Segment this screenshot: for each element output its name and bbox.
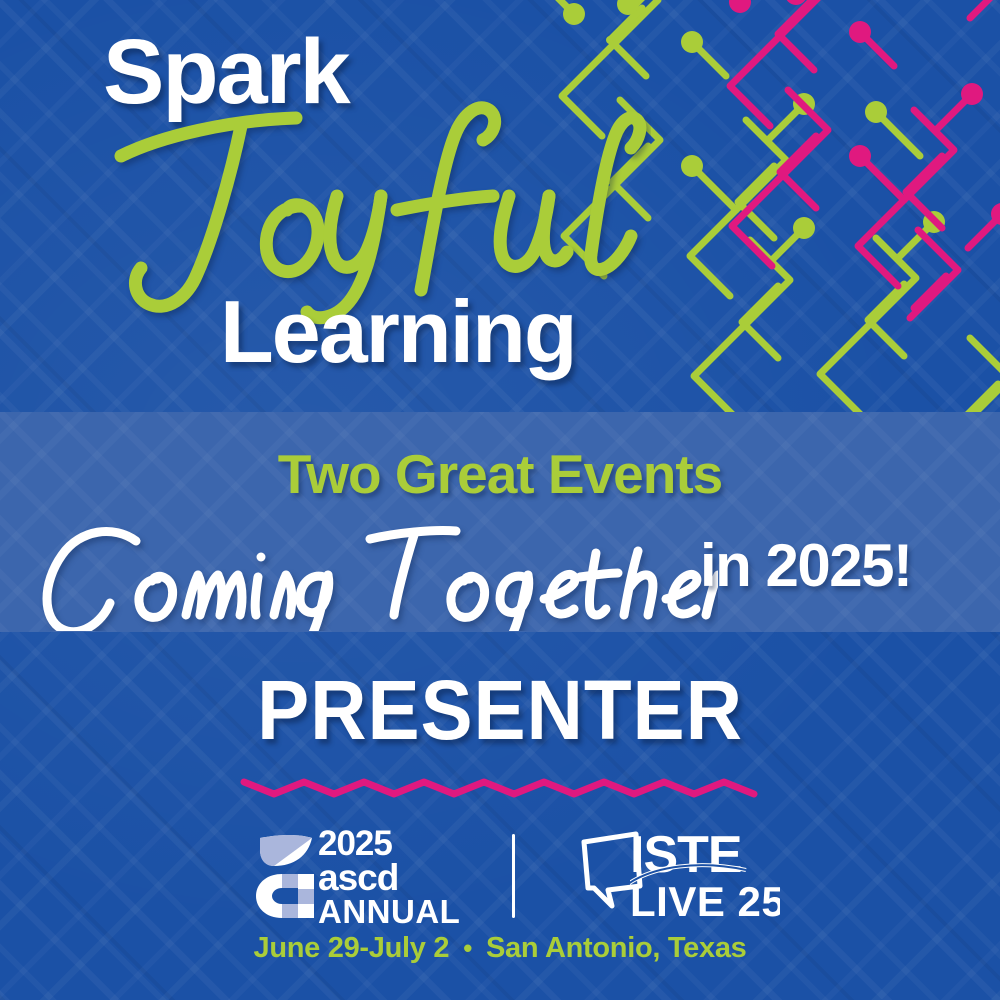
promo-poster: Spark Joyful — [0, 0, 1000, 1000]
event-location: San Antonio, Texas — [486, 932, 746, 964]
ascd-year: 2025 — [318, 828, 460, 861]
band-subline: Coming Together — [0, 517, 1000, 627]
magenta-zigzag-rule — [240, 770, 765, 806]
ascd-event: ANNUAL — [318, 896, 460, 927]
ascd-logo: 2025 ascd ANNUAL — [252, 828, 452, 926]
event-dates: June 29-July 2 — [254, 932, 450, 964]
band-script-coming-together: Coming Together — [18, 511, 718, 631]
event-details: June 29-July 2•San Antonio, Texas — [0, 932, 1000, 965]
band-headline: Two Great Events — [0, 442, 1000, 506]
event-banner-band: Two Great Events Coming Together — [0, 412, 1000, 632]
logo-row: 2025 ascd ANNUAL ISTE ISTE LIVE 25 — [0, 822, 1000, 932]
headline-line-learning: Learning — [220, 288, 576, 376]
ascd-wordmark: 2025 ascd ANNUAL — [318, 828, 460, 927]
ascd-name: ascd — [318, 861, 460, 896]
role-title: PRESENTER — [35, 662, 965, 759]
iste-logo: ISTE ISTE LIVE 25 — [578, 826, 778, 926]
logo-divider — [512, 834, 515, 918]
ascd-leaf-mark — [252, 830, 316, 922]
separator-bullet: • — [449, 933, 486, 963]
band-year-suffix: in 2025! — [700, 531, 911, 600]
iste-wordmark: ISTE ISTE LIVE 25 — [630, 826, 780, 922]
svg-text:LIVE 25: LIVE 25 — [630, 878, 780, 922]
headline-block: Spark Joyful — [95, 26, 715, 386]
